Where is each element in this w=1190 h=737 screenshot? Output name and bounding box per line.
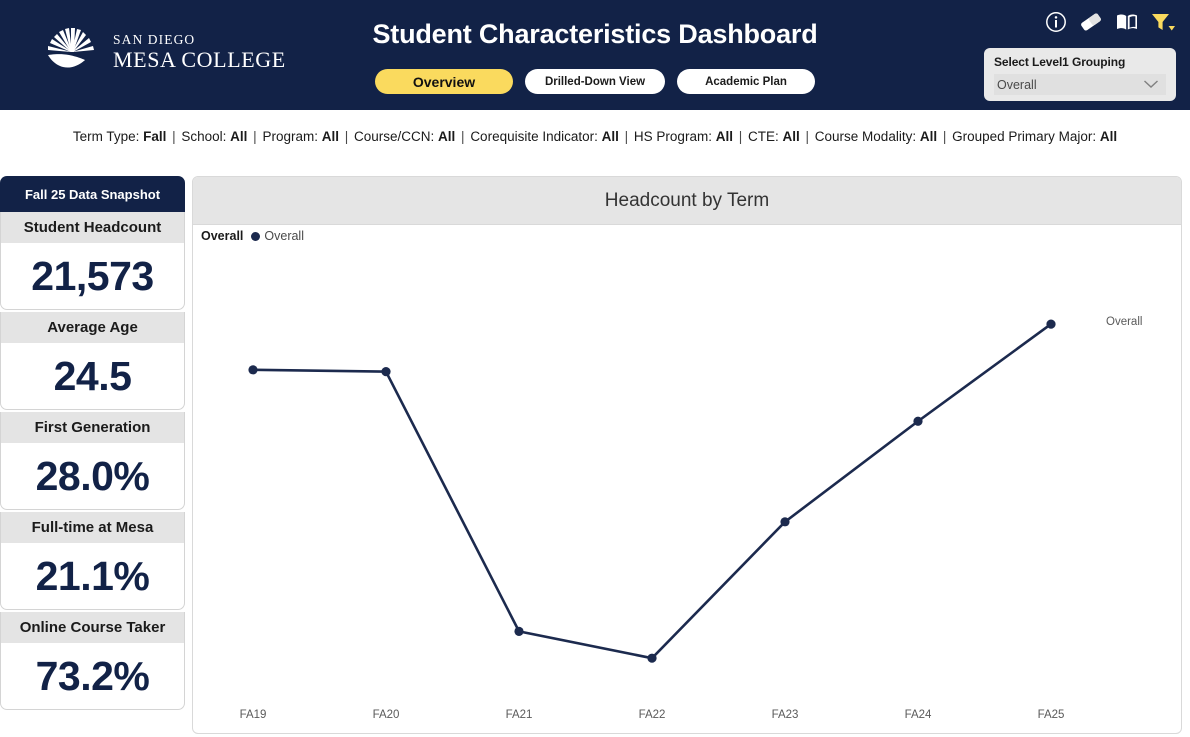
filter-icon[interactable] bbox=[1150, 11, 1176, 38]
kpi-card-online-course-taker: Online Course Taker 73.2% bbox=[0, 612, 185, 710]
filter-value: All bbox=[602, 129, 619, 144]
filter-label: Term Type: bbox=[73, 129, 143, 144]
kpi-title: Full-time at Mesa bbox=[1, 512, 184, 543]
filter-label: Program: bbox=[262, 129, 321, 144]
level1-grouping-label: Select Level1 Grouping bbox=[994, 55, 1166, 69]
x-tick-label: FA21 bbox=[506, 709, 533, 721]
kpi-card-student-headcount: Student Headcount 21,573 bbox=[0, 212, 185, 310]
x-tick-label: FA25 bbox=[1038, 709, 1065, 721]
filter-label: Grouped Primary Major: bbox=[952, 129, 1100, 144]
filter-value: All bbox=[716, 129, 733, 144]
series-line-overall bbox=[253, 324, 1051, 658]
snapshot-title: Fall 25 Data Snapshot bbox=[0, 176, 185, 212]
data-point-fa20[interactable] bbox=[381, 367, 390, 376]
filter-label: Corequisite Indicator: bbox=[470, 129, 601, 144]
filter-summary-text: Term Type: Fall | School: All | Program:… bbox=[73, 129, 1117, 144]
x-tick-label: FA22 bbox=[639, 709, 666, 721]
data-point-fa21[interactable] bbox=[514, 627, 523, 636]
filter-label: Course/CCN: bbox=[354, 129, 438, 144]
filter-label: HS Program: bbox=[634, 129, 716, 144]
x-tick-label: FA24 bbox=[905, 709, 932, 721]
filter-value: All bbox=[783, 129, 800, 144]
data-point-fa25[interactable] bbox=[1046, 319, 1055, 328]
x-axis: FA19FA20FA21FA22FA23FA24FA25 bbox=[193, 703, 1181, 733]
kpi-value: 21,573 bbox=[1, 243, 184, 309]
filter-separator: | bbox=[800, 129, 815, 144]
level1-grouping-value: Overall bbox=[997, 78, 1037, 92]
filter-value: Fall bbox=[143, 129, 166, 144]
kpi-value: 24.5 bbox=[1, 343, 184, 409]
tab-academic-plan[interactable]: Academic Plan bbox=[677, 69, 815, 94]
page-title: Student Characteristics Dashboard bbox=[0, 19, 1190, 50]
filter-value: All bbox=[438, 129, 455, 144]
filter-label: CTE: bbox=[748, 129, 783, 144]
tab-drilled-down-view[interactable]: Drilled-Down View bbox=[525, 69, 665, 94]
level1-grouping-select[interactable]: Overall bbox=[994, 74, 1166, 95]
filter-separator: | bbox=[937, 129, 952, 144]
kpi-value: 73.2% bbox=[1, 643, 184, 709]
info-icon[interactable] bbox=[1045, 11, 1067, 38]
chart-title: Headcount by Term bbox=[605, 190, 769, 212]
filter-separator: | bbox=[166, 129, 181, 144]
filter-separator: | bbox=[247, 129, 262, 144]
headcount-by-term-panel: Headcount by Term Overall Overall FA19FA… bbox=[192, 176, 1182, 734]
app-header: SAN DIEGO MESA COLLEGE Student Character… bbox=[0, 0, 1190, 110]
filter-separator: | bbox=[619, 129, 634, 144]
data-point-fa19[interactable] bbox=[248, 365, 257, 374]
data-point-fa23[interactable] bbox=[780, 517, 789, 526]
kpi-title: Online Course Taker bbox=[1, 612, 184, 643]
logo-line-mesa-college: MESA COLLEGE bbox=[113, 49, 286, 71]
x-tick-label: FA20 bbox=[373, 709, 400, 721]
filter-separator: | bbox=[339, 129, 354, 144]
kpi-card-first-generation: First Generation 28.0% bbox=[0, 412, 185, 510]
filter-label: Course Modality: bbox=[815, 129, 920, 144]
level1-grouping-panel: Select Level1 Grouping Overall bbox=[984, 48, 1176, 101]
filter-value: All bbox=[322, 129, 339, 144]
series-end-label: Overall bbox=[1106, 316, 1142, 328]
header-icon-bar bbox=[1045, 11, 1176, 38]
data-point-fa22[interactable] bbox=[647, 654, 656, 663]
kpi-sidebar: Fall 25 Data Snapshot Student Headcount … bbox=[0, 176, 185, 712]
kpi-title: First Generation bbox=[1, 412, 184, 443]
kpi-value: 28.0% bbox=[1, 443, 184, 509]
filter-value: All bbox=[920, 129, 937, 144]
kpi-title: Average Age bbox=[1, 312, 184, 343]
x-tick-label: FA23 bbox=[772, 709, 799, 721]
kpi-card-full-time-at-mesa: Full-time at Mesa 21.1% bbox=[0, 512, 185, 610]
chevron-down-icon bbox=[1143, 76, 1159, 94]
chart-header: Headcount by Term bbox=[193, 177, 1181, 225]
filter-summary-bar: Term Type: Fall | School: All | Program:… bbox=[0, 110, 1190, 162]
kpi-value: 21.1% bbox=[1, 543, 184, 609]
tab-overview[interactable]: Overview bbox=[375, 69, 513, 94]
x-tick-label: FA19 bbox=[240, 709, 267, 721]
line-chart-plot: FA19FA20FA21FA22FA23FA24FA25 Overall bbox=[193, 225, 1181, 733]
kpi-title: Student Headcount bbox=[1, 212, 184, 243]
eraser-icon[interactable] bbox=[1078, 11, 1104, 38]
filter-value: All bbox=[230, 129, 247, 144]
filter-value: All bbox=[1100, 129, 1117, 144]
book-icon[interactable] bbox=[1115, 11, 1139, 38]
data-point-fa24[interactable] bbox=[913, 417, 922, 426]
headcount-line-chart[interactable] bbox=[193, 225, 1181, 733]
filter-label: School: bbox=[181, 129, 230, 144]
filter-separator: | bbox=[733, 129, 748, 144]
filter-separator: | bbox=[455, 129, 470, 144]
kpi-card-average-age: Average Age 24.5 bbox=[0, 312, 185, 410]
